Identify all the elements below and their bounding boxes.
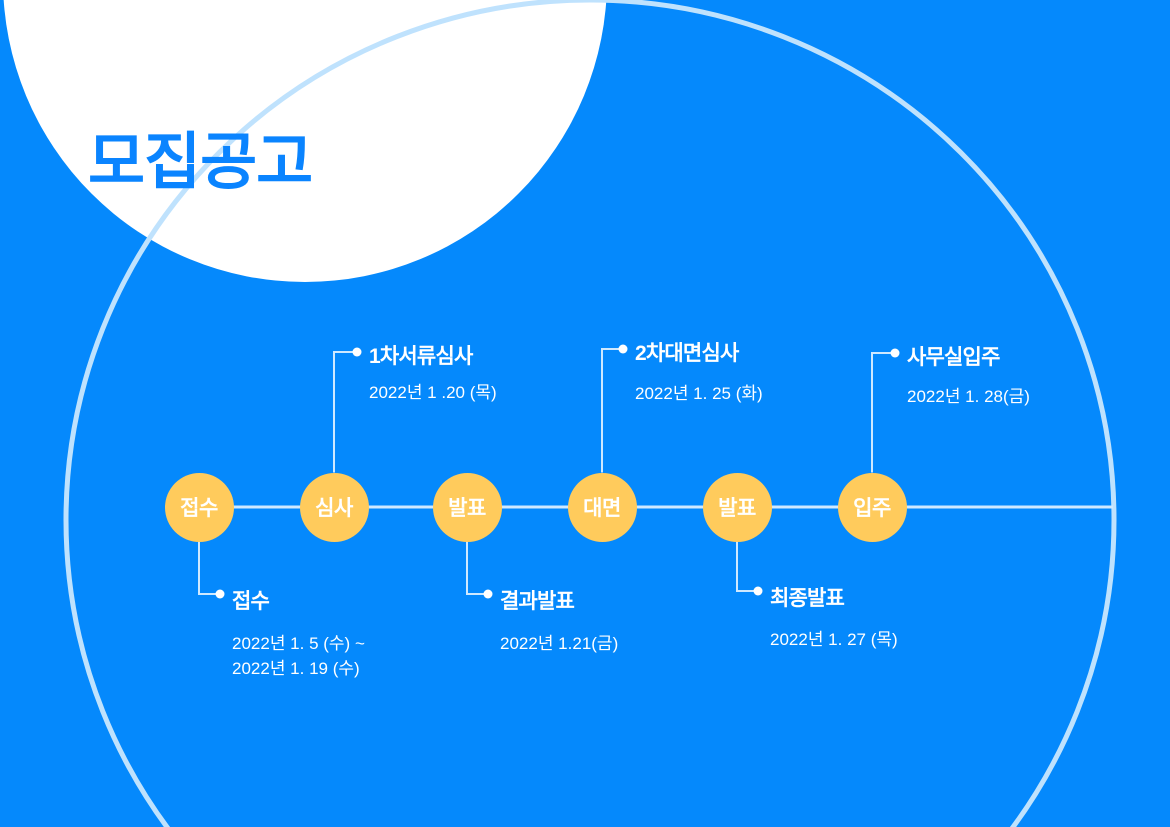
callout-application-title: 접수 xyxy=(232,585,269,615)
callout-application-date-line: 2022년 1. 19 (수) xyxy=(232,657,365,682)
page-title: 모집공고 xyxy=(88,132,312,194)
callout-final-announcement-date-line: 2022년 1. 27 (목) xyxy=(770,628,898,653)
connector-dot-callout-final-announcement xyxy=(754,587,763,596)
connector-dot-callout-office-move-in xyxy=(891,349,900,358)
slide-canvas: 모집공고 접수심사발표대면발표입주 접수2022년 1. 5 (수) ~2022… xyxy=(0,0,1170,827)
callout-final-announcement-date: 2022년 1. 27 (목) xyxy=(770,628,898,653)
callout-application-date-line: 2022년 1. 5 (수) ~ xyxy=(232,632,365,657)
callout-office-move-in-title: 사무실입주 xyxy=(907,341,1000,371)
timeline-node-label: 발표 xyxy=(448,492,486,522)
callout-first-document-review-date-line: 2022년 1 .20 (목) xyxy=(369,381,497,406)
timeline-node-5[interactable]: 입주 xyxy=(838,473,907,542)
timeline-node-label: 입주 xyxy=(853,492,891,522)
callout-final-announcement-title: 최종발표 xyxy=(770,582,844,612)
callout-result-announcement-date-line: 2022년 1.21(금) xyxy=(500,632,618,657)
connector-dot-callout-second-interview xyxy=(619,345,628,354)
timeline-node-1[interactable]: 심사 xyxy=(300,473,369,542)
timeline-node-label: 발표 xyxy=(718,492,756,522)
callout-second-interview-date-line: 2022년 1. 25 (화) xyxy=(635,382,763,407)
connector-dot-callout-first-document-review xyxy=(353,348,362,357)
callout-first-document-review-date: 2022년 1 .20 (목) xyxy=(369,381,497,406)
callout-second-interview-date: 2022년 1. 25 (화) xyxy=(635,382,763,407)
timeline-node-label: 심사 xyxy=(315,492,353,522)
timeline-node-3[interactable]: 대면 xyxy=(568,473,637,542)
connector-dot-callout-result-announcement xyxy=(484,590,493,599)
timeline-node-label: 대면 xyxy=(583,492,621,522)
callout-result-announcement-title: 결과발표 xyxy=(500,585,574,615)
callout-office-move-in-date-line: 2022년 1. 28(금) xyxy=(907,385,1030,410)
callout-result-announcement-date: 2022년 1.21(금) xyxy=(500,632,618,657)
callout-application-date: 2022년 1. 5 (수) ~2022년 1. 19 (수) xyxy=(232,632,365,681)
timeline-node-label: 접수 xyxy=(180,492,218,522)
callout-first-document-review-title: 1차서류심사 xyxy=(369,340,472,370)
background-graphics xyxy=(0,0,1170,827)
timeline-node-2[interactable]: 발표 xyxy=(433,473,502,542)
callout-second-interview-title: 2차대면심사 xyxy=(635,337,738,367)
timeline-node-4[interactable]: 발표 xyxy=(703,473,772,542)
timeline-node-0[interactable]: 접수 xyxy=(165,473,234,542)
callout-office-move-in-date: 2022년 1. 28(금) xyxy=(907,385,1030,410)
connector-dot-callout-application xyxy=(216,590,225,599)
